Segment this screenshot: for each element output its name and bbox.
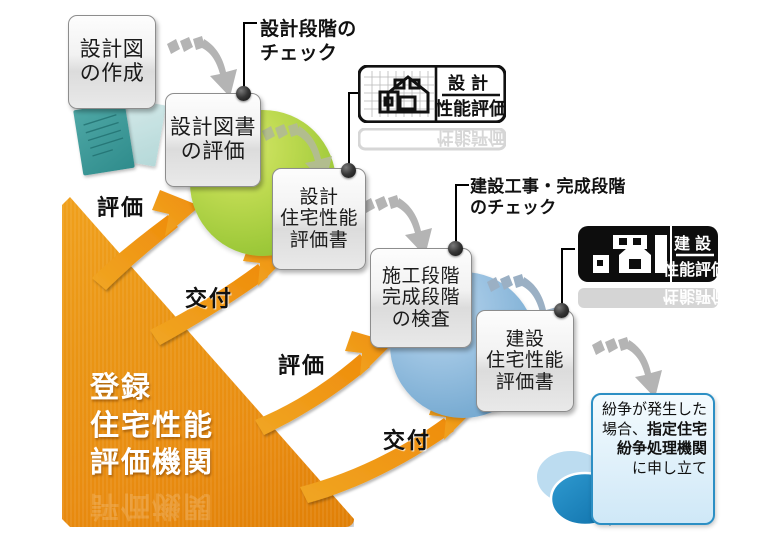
- leader-construction-stamp-tick: [561, 248, 575, 250]
- box-design-drawing-label: 設計図 の作成: [80, 38, 145, 86]
- dispute-box-text: 紛争が発生した 場合、指定住宅 紛争処理機関 に申し立て: [595, 400, 707, 478]
- grey-arrow-1: [167, 36, 237, 97]
- svg-text:設計: 設計: [448, 73, 494, 94]
- knob-design-doc-eval: [236, 86, 251, 101]
- leader-construction-check: [455, 184, 457, 248]
- paper-front: [73, 102, 135, 175]
- leader-design-check-tick: [243, 22, 257, 24]
- box-construction-cert[interactable]: 建設 住宅性能 評価書: [476, 310, 574, 412]
- knob-construction-inspect: [448, 241, 463, 256]
- callout-construction-stage-check: 建設工事・完成段階 のチェック: [470, 177, 626, 220]
- grey-arrow-3: [362, 195, 432, 256]
- callout-design-stage-check: 設計段階の チェック: [260, 18, 357, 66]
- knob-design-perf-cert: [341, 163, 356, 178]
- svg-text:性能評価: 性能評価: [435, 98, 506, 120]
- diagram-canvas: 登録 住宅性能 評価機関 評価機関: [0, 0, 770, 538]
- dispute-line-2-bold: 指定住宅: [647, 420, 707, 438]
- box-design-doc-eval-label: 設計図書 の評価: [170, 116, 256, 164]
- stamp-construction-performance-reflection: 性能評価: [577, 284, 719, 322]
- stamp-construction-performance: 建設 性能評価: [577, 225, 719, 287]
- dispute-line-4: に申し立て: [595, 459, 707, 479]
- leader-construction-check-tick: [455, 184, 469, 186]
- leader-construction-stamp: [561, 248, 563, 306]
- box-design-perf-cert[interactable]: 設計 住宅性能 評価書: [272, 168, 366, 270]
- grey-arrow-5: [592, 337, 662, 398]
- box-design-doc-eval[interactable]: 設計図書 の評価: [165, 93, 261, 187]
- dispute-line-2-plain: 場合、: [602, 420, 647, 438]
- knob-construction-cert: [554, 303, 569, 318]
- svg-text:性能評価: 性能評価: [663, 260, 719, 279]
- box-construction-cert-label: 建設 住宅性能 評価書: [486, 329, 564, 394]
- box-design-drawing[interactable]: 設計図 の作成: [68, 15, 156, 109]
- box-construction-inspect-label: 施工段階 完成段階 の検査: [382, 266, 460, 331]
- leader-design-stamp: [348, 92, 350, 172]
- stamp-design-performance-reflection: 性能評価: [358, 124, 506, 168]
- svg-text:性能評価: 性能評価: [663, 288, 719, 306]
- box-construction-inspect[interactable]: 施工段階 完成段階 の検査: [370, 248, 472, 348]
- dispute-line-3-bold: 紛争処理機関: [617, 439, 707, 457]
- leader-design-check: [243, 22, 245, 94]
- dispute-line-3: 紛争処理機関: [595, 439, 707, 459]
- stamp-design-performance: 設計 性能評価: [358, 65, 506, 127]
- svg-text:建設: 建設: [674, 234, 716, 253]
- dispute-line-1: 紛争が発生した: [595, 400, 707, 420]
- svg-text:性能評価: 性能評価: [437, 128, 505, 148]
- box-design-perf-cert-label: 設計 住宅性能 評価書: [280, 187, 358, 252]
- dispute-line-2: 場合、指定住宅: [595, 420, 707, 440]
